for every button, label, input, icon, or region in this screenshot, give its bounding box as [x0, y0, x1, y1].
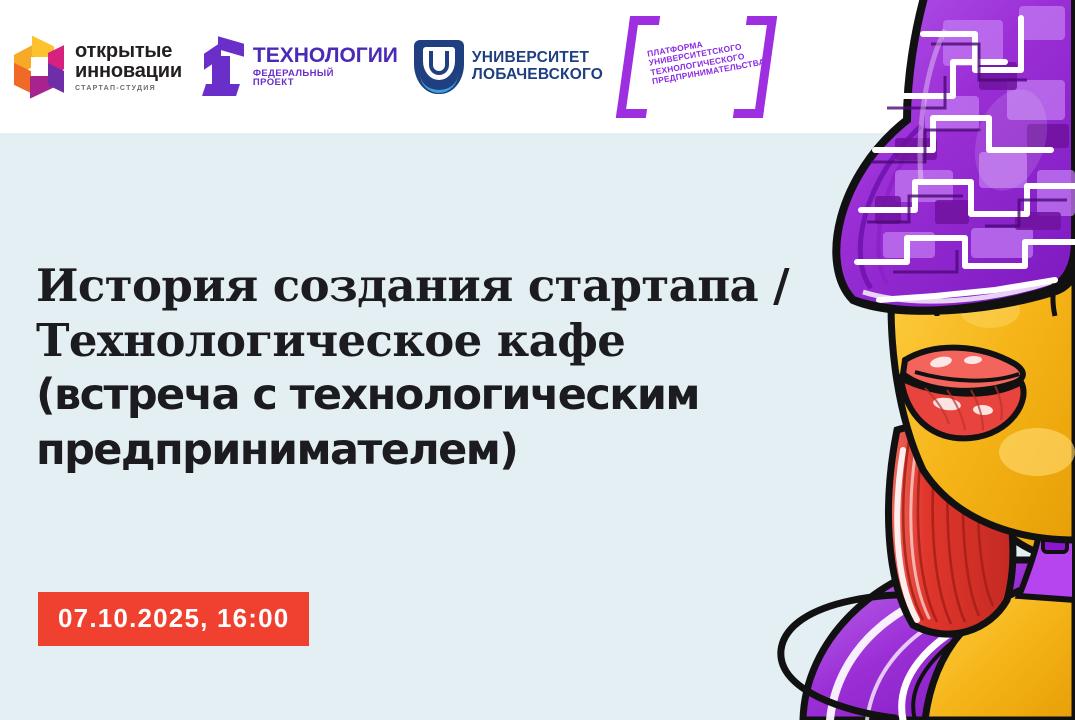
event-title-line-3: (встреча с технологическим — [36, 368, 806, 423]
technologies-one-icon — [200, 38, 246, 96]
logo-unn-line1: УНИВЕРСИТЕТ — [472, 50, 603, 67]
logo-oi-subtitle: СТАРТАП-СТУДИЯ — [75, 85, 182, 92]
event-title-line-4: предпринимателем) — [36, 423, 806, 478]
open-innovations-wordmark: открытые инновации СТАРТАП-СТУДИЯ — [75, 41, 182, 92]
logo-oi-line1: открытые — [75, 41, 182, 61]
logo-lobachevsky-university: УНИВЕРСИТЕТ ЛОБАЧЕВСКОГО — [414, 40, 603, 94]
open-innovations-cube-icon — [12, 39, 66, 95]
event-banner: открытые инновации СТАРТАП-СТУДИЯ ТЕХНОЛ… — [0, 0, 1075, 720]
event-title: История создания стартапа / Технологичес… — [36, 258, 806, 478]
university-wordmark: УНИВЕРСИТЕТ ЛОБАЧЕВСКОГО — [472, 50, 603, 83]
event-date-badge: 07.10.2025, 16:00 — [38, 592, 309, 646]
university-shield-icon — [414, 40, 464, 94]
logo-open-innovations: открытые инновации СТАРТАП-СТУДИЯ — [12, 39, 182, 95]
cheek-highlight — [999, 428, 1075, 476]
logo-tech-line1: ТЕХНОЛОГИИ — [253, 45, 398, 67]
event-title-line-1: История создания стартапа / — [36, 258, 806, 313]
logo-tech-line3: ПРОЕКТ — [253, 78, 398, 88]
partner-logo-strip: открытые инновации СТАРТАП-СТУДИЯ ТЕХНОЛ… — [0, 0, 1075, 133]
logo-unn-line2: ЛОБАЧЕВСКОГО — [472, 67, 603, 84]
logo-technologies-federal-project: ТЕХНОЛОГИИ ФЕДЕРАЛЬНЫЙ ПРОЕКТ — [200, 38, 398, 96]
technologies-wordmark: ТЕХНОЛОГИИ ФЕДЕРАЛЬНЫЙ ПРОЕКТ — [253, 45, 398, 89]
event-title-line-2: Технологическое кафе — [36, 313, 806, 368]
logo-oi-line2: инновации — [75, 61, 182, 81]
logo-tech-entrepreneurship-platform: ПЛАТФОРМА УНИВЕРСИТЕТСКОГО ТЕХНОЛОГИЧЕСК… — [619, 12, 774, 122]
